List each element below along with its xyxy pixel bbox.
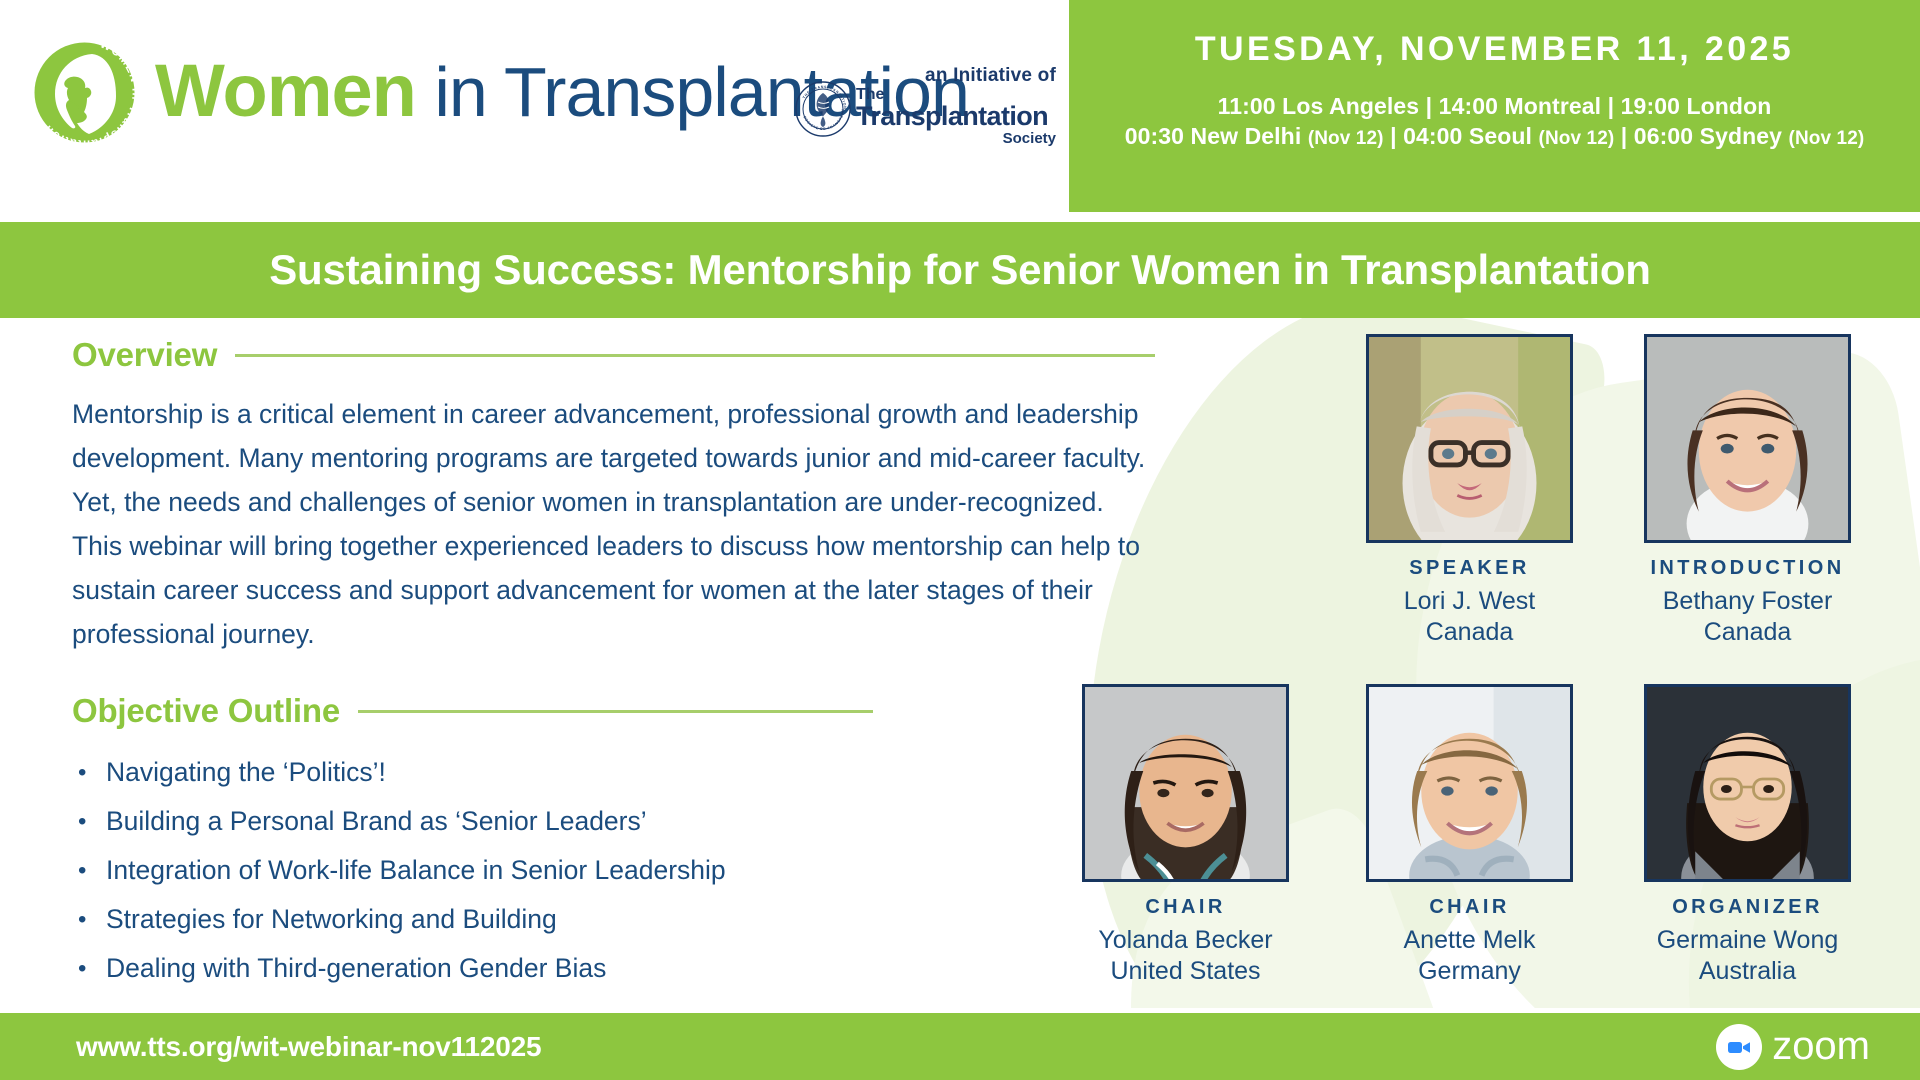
person-country: Canada bbox=[1644, 617, 1851, 648]
transplantation-society-lockup: THE TRANSPLANTATION SOCIETY SOCIETE DE T… bbox=[794, 66, 1056, 152]
tz-sydney-day: (Nov 12) bbox=[1789, 128, 1865, 149]
webinar-poster: WOMEN in Transplantation Women in Transp… bbox=[0, 0, 1920, 1080]
person-name: Lori J. West bbox=[1366, 586, 1573, 617]
portrait-anette-melk bbox=[1369, 687, 1570, 879]
brand-word-women: Women bbox=[155, 49, 416, 132]
tz-new-delhi-day: (Nov 12) bbox=[1308, 128, 1384, 149]
poster-header: WOMEN in Transplantation Women in Transp… bbox=[0, 0, 1920, 212]
person-name: Bethany Foster bbox=[1644, 586, 1851, 617]
objectives-list: Navigating the ‘Politics’! Building a Pe… bbox=[72, 748, 1152, 993]
content-left-column: Overview Mentorship is a critical elemen… bbox=[72, 336, 1152, 993]
person-card: ORGANIZER Germaine Wong Australia bbox=[1644, 684, 1851, 987]
avatar bbox=[1644, 334, 1851, 543]
timezones-line-1: 11:00 Los Angeles | 14:00 Montreal | 19:… bbox=[1069, 91, 1920, 121]
person-name: Germaine Wong bbox=[1644, 925, 1851, 956]
portrait-bethany-foster bbox=[1647, 337, 1848, 540]
portrait-germaine-wong bbox=[1647, 687, 1848, 879]
person-country: United States bbox=[1082, 956, 1289, 987]
webinar-title-bar: Sustaining Success: Mentorship for Senio… bbox=[0, 222, 1920, 318]
person-name: Yolanda Becker bbox=[1082, 925, 1289, 956]
overview-body: Mentorship is a critical element in care… bbox=[72, 392, 1152, 656]
heading-rule bbox=[235, 354, 1155, 357]
person-role: CHAIR bbox=[1366, 896, 1573, 919]
portrait-yolanda-becker bbox=[1085, 687, 1286, 879]
list-item: Building a Personal Brand as ‘Senior Lea… bbox=[72, 797, 1152, 846]
webinar-date: TUESDAY, NOVEMBER 11, 2025 bbox=[1069, 30, 1920, 69]
person-country: Canada bbox=[1366, 617, 1573, 648]
person-role: SPEAKER bbox=[1366, 557, 1573, 580]
objectives-section: Objective Outline Navigating the ‘Politi… bbox=[72, 692, 1152, 993]
tts-main-label: Transplantation bbox=[856, 103, 1056, 130]
avatar bbox=[1366, 334, 1573, 543]
tts-society-label: Society bbox=[856, 131, 1056, 146]
tz-new-delhi: 00:30 New Delhi bbox=[1125, 123, 1308, 149]
date-and-timezone-panel: TUESDAY, NOVEMBER 11, 2025 11:00 Los Ang… bbox=[1069, 0, 1920, 212]
person-country: Australia bbox=[1644, 956, 1851, 987]
person-role: INTRODUCTION bbox=[1644, 557, 1851, 580]
tz-seoul: | 04:00 Seoul bbox=[1384, 123, 1539, 149]
tts-initiative-label: an Initiative of bbox=[856, 66, 1056, 86]
objectives-heading: Objective Outline bbox=[72, 692, 340, 730]
person-card: CHAIR Anette Melk Germany bbox=[1366, 684, 1573, 987]
list-item: Dealing with Third-generation Gender Bia… bbox=[72, 944, 1152, 993]
portrait-lori-west bbox=[1369, 337, 1570, 540]
person-role: ORGANIZER bbox=[1644, 896, 1851, 919]
women-in-transplantation-logo-icon: WOMEN in Transplantation bbox=[22, 30, 147, 155]
poster-footer: www.tts.org/wit-webinar-nov112025 zoom bbox=[0, 1013, 1920, 1080]
list-item: Navigating the ‘Politics’! bbox=[72, 748, 1152, 797]
avatar bbox=[1082, 684, 1289, 882]
transplantation-society-seal-icon: THE TRANSPLANTATION SOCIETY SOCIETE DE T… bbox=[794, 80, 852, 138]
page-title: Sustaining Success: Mentorship for Senio… bbox=[269, 246, 1651, 294]
overview-heading: Overview bbox=[72, 336, 217, 374]
list-item: Strategies for Networking and Building bbox=[72, 895, 1152, 944]
tz-sydney: | 06:00 Sydney bbox=[1614, 123, 1788, 149]
person-role: CHAIR bbox=[1082, 896, 1289, 919]
objectives-heading-row: Objective Outline bbox=[72, 692, 1152, 730]
avatar bbox=[1644, 684, 1851, 882]
person-card: CHAIR Yolanda Becker United States bbox=[1082, 684, 1289, 987]
person-country: Germany bbox=[1366, 956, 1573, 987]
zoom-logo: zoom bbox=[1716, 1024, 1870, 1070]
overview-heading-row: Overview bbox=[72, 336, 1152, 374]
person-card: SPEAKER Lori J. West Canada bbox=[1366, 334, 1573, 648]
timezones-line-2: 00:30 New Delhi (Nov 12) | 04:00 Seoul (… bbox=[1069, 121, 1920, 151]
list-item: Integration of Work-life Balance in Seni… bbox=[72, 846, 1152, 895]
person-card: INTRODUCTION Bethany Foster Canada bbox=[1644, 334, 1851, 648]
registration-url[interactable]: www.tts.org/wit-webinar-nov112025 bbox=[76, 1031, 541, 1063]
tz-seoul-day: (Nov 12) bbox=[1539, 128, 1615, 149]
person-name: Anette Melk bbox=[1366, 925, 1573, 956]
heading-rule bbox=[358, 710, 873, 713]
avatar bbox=[1366, 684, 1573, 882]
zoom-video-camera-icon bbox=[1716, 1024, 1762, 1070]
zoom-wordmark: zoom bbox=[1772, 1024, 1870, 1069]
